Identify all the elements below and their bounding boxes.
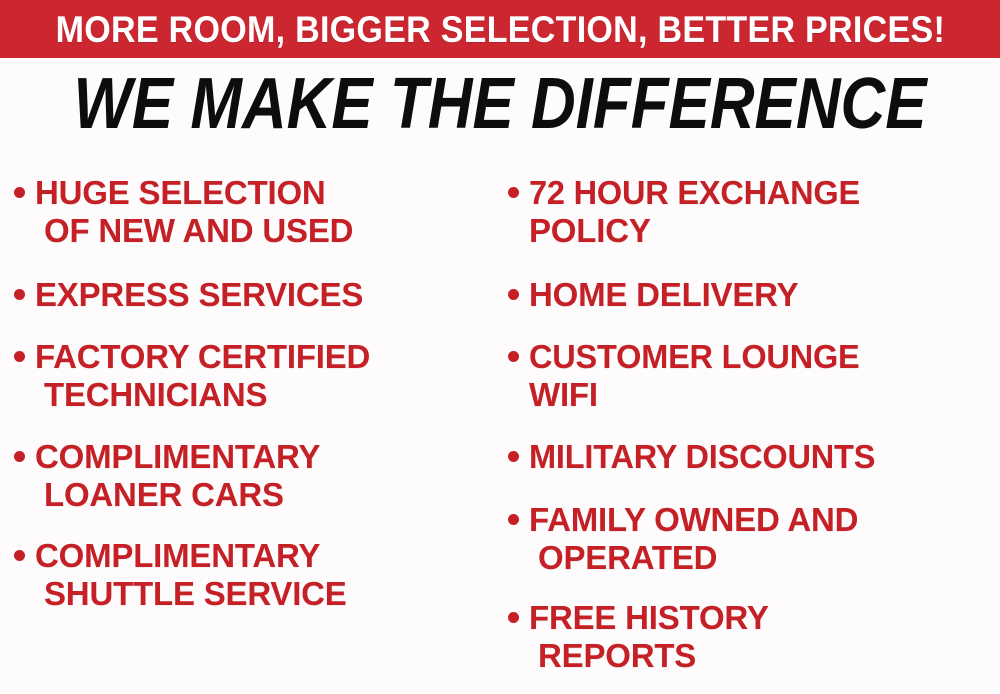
list-item-line: REPORTS: [529, 637, 769, 675]
bullet-dot-icon: [14, 289, 25, 300]
list-item-line: TECHNICIANS: [35, 376, 370, 414]
list-item-text: MILITARY DISCOUNTS: [529, 438, 880, 476]
list-item-line: HOME DELIVERY: [529, 276, 798, 314]
bullet-dot-icon: [508, 187, 519, 198]
list-item-text: COMPLIMENTARY SHUTTLE SERVICE: [35, 537, 347, 613]
list-item-line: OPERATED: [529, 539, 858, 577]
list-item-line: EXPRESS SERVICES: [35, 276, 363, 314]
list-item-text: FAMILY OWNED AND OPERATED: [529, 501, 858, 577]
list-item-text: COMPLIMENTARY LOANER CARS: [35, 438, 320, 514]
list-item-line: 72 HOUR EXCHANGE: [529, 174, 860, 212]
list-item: COMPLIMENTARY SHUTTLE SERVICE: [14, 537, 347, 613]
list-item-text: HOME DELIVERY: [529, 276, 798, 314]
list-item-line: OF NEW AND USED: [35, 212, 353, 250]
list-item-line: CUSTOMER LOUNGE: [529, 338, 860, 376]
list-item-line: HUGE SELECTION: [35, 174, 353, 212]
list-item-text: FACTORY CERTIFIED TECHNICIANS: [35, 338, 370, 414]
list-item-line: COMPLIMENTARY: [35, 438, 320, 476]
list-item: MILITARY DISCOUNTS: [508, 438, 880, 476]
list-item: FACTORY CERTIFIED TECHNICIANS: [14, 338, 370, 414]
bullet-dot-icon: [508, 351, 519, 362]
list-item-text: HUGE SELECTION OF NEW AND USED: [35, 174, 353, 250]
list-item-text: CUSTOMER LOUNGE WIFI: [529, 338, 865, 414]
list-item: FREE HISTORY REPORTS: [508, 599, 769, 675]
list-item-line: LOANER CARS: [35, 476, 320, 514]
bullet-dot-icon: [14, 550, 25, 561]
bullet-dot-icon: [14, 187, 25, 198]
list-item-line: COMPLIMENTARY: [35, 537, 347, 575]
list-item-line: WIFI: [529, 376, 865, 414]
top-banner: MORE ROOM, BIGGER SELECTION, BETTER PRIC…: [0, 0, 1000, 58]
promotional-poster: MORE ROOM, BIGGER SELECTION, BETTER PRIC…: [0, 0, 1000, 694]
bullet-dot-icon: [508, 289, 519, 300]
list-item-line: SHUTTLE SERVICE: [35, 575, 347, 613]
list-item-line: MILITARY DISCOUNTS: [529, 438, 875, 476]
headline-container: WE MAKE THE DIFFERENCE: [0, 68, 1000, 140]
right-benefits-column: 72 HOUR EXCHANGE POLICY HOME DELIVERY CU…: [508, 160, 1000, 694]
list-item-text: FREE HISTORY REPORTS: [529, 599, 769, 675]
bullet-dot-icon: [508, 612, 519, 623]
list-item-line: FREE HISTORY: [529, 599, 769, 637]
list-item: HOME DELIVERY: [508, 276, 798, 314]
list-item-text: EXPRESS SERVICES: [35, 276, 363, 314]
benefits-columns: HUGE SELECTION OF NEW AND USED EXPRESS S…: [0, 160, 1000, 694]
list-item: COMPLIMENTARY LOANER CARS: [14, 438, 320, 514]
list-item: FAMILY OWNED AND OPERATED: [508, 501, 858, 577]
bullet-dot-icon: [14, 451, 25, 462]
list-item: EXPRESS SERVICES: [14, 276, 363, 314]
list-item: CUSTOMER LOUNGE WIFI: [508, 338, 865, 414]
bullet-dot-icon: [14, 351, 25, 362]
list-item-text: 72 HOUR EXCHANGE POLICY: [529, 174, 865, 250]
page-title: WE MAKE THE DIFFERENCE: [73, 68, 926, 140]
list-item: 72 HOUR EXCHANGE POLICY: [508, 174, 865, 250]
banner-headline: MORE ROOM, BIGGER SELECTION, BETTER PRIC…: [55, 11, 944, 48]
left-benefits-column: HUGE SELECTION OF NEW AND USED EXPRESS S…: [14, 160, 494, 694]
list-item-line: POLICY: [529, 212, 865, 250]
bullet-dot-icon: [508, 451, 519, 462]
list-item: HUGE SELECTION OF NEW AND USED: [14, 174, 353, 250]
list-item-line: FAMILY OWNED AND: [529, 501, 858, 539]
list-item-line: FACTORY CERTIFIED: [35, 338, 370, 376]
bullet-dot-icon: [508, 514, 519, 525]
